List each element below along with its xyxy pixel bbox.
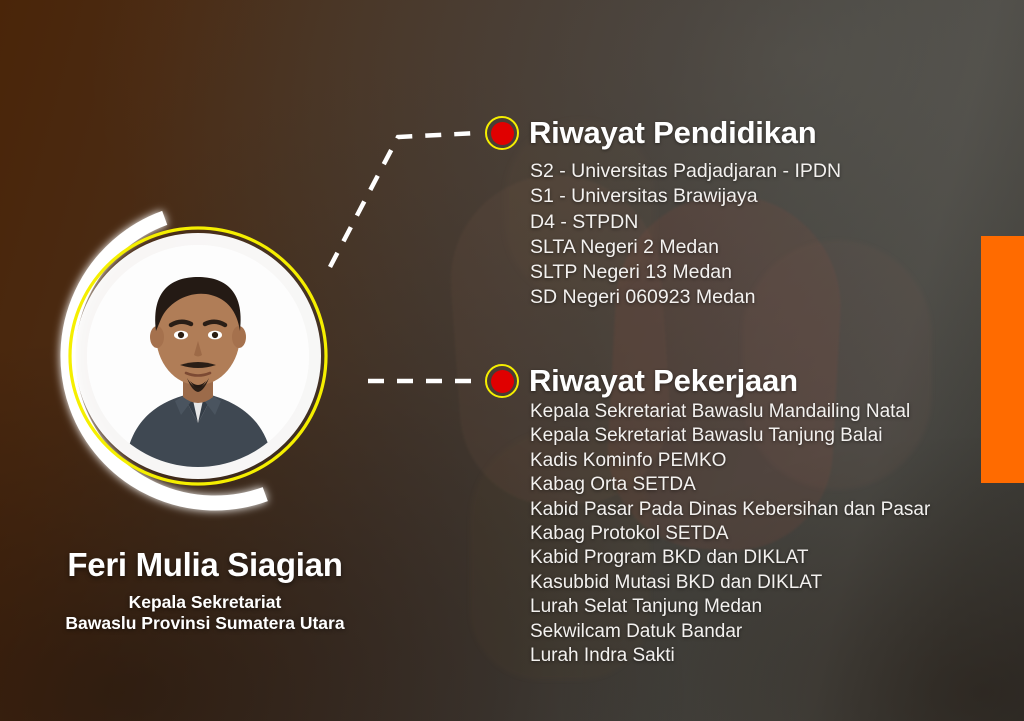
list-item: Lurah Indra Sakti (530, 644, 930, 668)
education-list: S2 - Universitas Padjadjaran - IPDN S1 -… (530, 159, 841, 311)
avatar (87, 245, 309, 467)
list-item: Kabag Protokol SETDA (530, 522, 930, 546)
orange-accent-bar-icon (981, 236, 1024, 483)
list-item: S2 - Universitas Padjadjaran - IPDN (530, 159, 841, 184)
list-item: D4 - STPDN (530, 210, 841, 235)
portrait-photo-icon (87, 245, 309, 467)
list-item: Kabid Program BKD dan DIKLAT (530, 546, 930, 570)
list-item: SD Negeri 060923 Medan (530, 285, 841, 310)
list-item: Lurah Selat Tanjung Medan (530, 595, 930, 619)
person-name: Feri Mulia Siagian (0, 546, 410, 584)
section-title-work: Riwayat Pekerjaan (529, 363, 798, 399)
person-role-line-1: Kepala Sekretariat (0, 592, 410, 613)
person-role: Kepala Sekretariat Bawaslu Provinsi Suma… (0, 592, 410, 634)
orange-accent-bar (981, 236, 1024, 483)
profile-infographic-slide: Riwayat Pendidikan S2 - Universitas Padj… (0, 0, 1024, 721)
list-item: SLTA Negeri 2 Medan (530, 235, 841, 260)
list-item: Kabid Pasar Pada Dinas Kebersihan dan Pa… (530, 498, 930, 522)
section-title-education: Riwayat Pendidikan (529, 115, 817, 151)
person-role-line-2: Bawaslu Provinsi Sumatera Utara (0, 613, 410, 634)
section-bullet-work (485, 364, 519, 398)
work-list: Kepala Sekretariat Bawaslu Mandailing Na… (530, 400, 930, 668)
list-item: SLTP Negeri 13 Medan (530, 260, 841, 285)
list-item: Kepala Sekretariat Bawaslu Mandailing Na… (530, 400, 930, 424)
list-item: Sekwilcam Datuk Bandar (530, 620, 930, 644)
filled-circle-marker-icon (491, 122, 514, 145)
list-item: Kepala Sekretariat Bawaslu Tanjung Balai (530, 424, 930, 448)
list-item: S1 - Universitas Brawijaya (530, 184, 841, 209)
section-bullet-education (485, 116, 519, 150)
portrait-frame (55, 185, 400, 540)
filled-circle-marker-icon (491, 370, 514, 393)
list-item: Kadis Kominfo PEMKO (530, 449, 930, 473)
list-item: Kabag Orta SETDA (530, 473, 930, 497)
list-item: Kasubbid Mutasi BKD dan DIKLAT (530, 571, 930, 595)
